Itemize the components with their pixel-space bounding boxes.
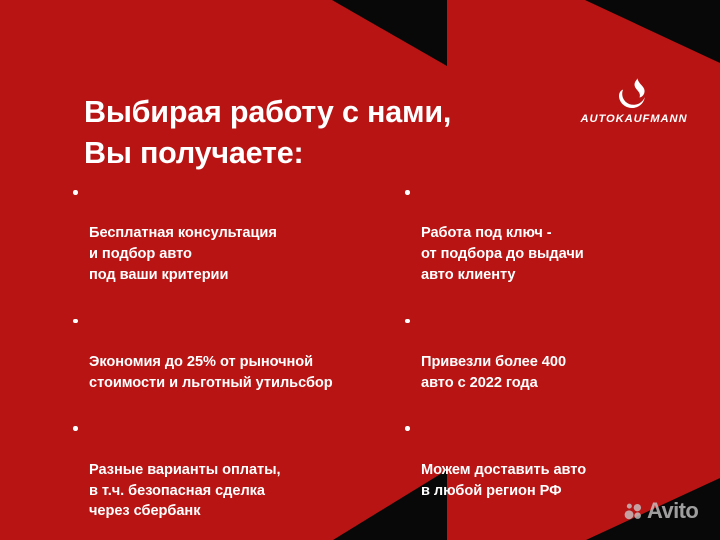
- benefit-text: Работа под ключ - от подбора до выдачи а…: [421, 225, 584, 282]
- avito-watermark: Avito: [624, 500, 698, 522]
- page-title: Выбирая работу с нами, Вы получаете:: [84, 92, 554, 173]
- bullet-dot-icon: [405, 190, 410, 195]
- benefit-text: Можем доставить авто в любой регион РФ: [421, 462, 586, 499]
- top-right-triangle: [585, 0, 720, 63]
- avito-label: Avito: [647, 500, 698, 522]
- benefits-column-left: Бесплатная консультация и подбор авто по…: [72, 182, 402, 540]
- bullet-dot-icon: [405, 319, 410, 324]
- bullet-dot-icon: [405, 426, 410, 431]
- benefit-text: Привезли более 400 авто с 2022 года: [421, 354, 566, 391]
- flame-swoosh-icon: [617, 76, 651, 110]
- bullet-dot-icon: [73, 426, 78, 431]
- benefit-text: Экономия до 25% от рыночной стоимости и …: [89, 354, 333, 391]
- benefit-item: Разные варианты оплаты, в т.ч. безопасна…: [72, 418, 402, 522]
- avito-dots-icon: [624, 502, 643, 521]
- brand-logo: AUTOKAUFMANN: [578, 76, 690, 125]
- benefit-item: Можем доставить авто в любой регион РФ: [404, 418, 704, 501]
- benefit-text: Бесплатная консультация и подбор авто по…: [89, 225, 277, 282]
- top-left-triangle: [332, 0, 447, 66]
- benefit-item: Экономия до 25% от рыночной стоимости и …: [72, 311, 402, 394]
- benefit-item: Бесплатная консультация и подбор авто по…: [72, 182, 402, 286]
- benefits-column-right: Работа под ключ - от подбора до выдачи а…: [404, 182, 704, 501]
- benefit-item: Работа под ключ - от подбора до выдачи а…: [404, 182, 704, 286]
- benefit-text: Разные варианты оплаты, в т.ч. безопасна…: [89, 462, 281, 519]
- bullet-dot-icon: [73, 190, 78, 195]
- brand-name: AUTOKAUFMANN: [578, 113, 690, 125]
- bullet-dot-icon: [73, 319, 78, 324]
- promo-poster: Выбирая работу с нами, Вы получаете: AUT…: [0, 0, 720, 540]
- benefit-item: Привезли более 400 авто с 2022 года: [404, 311, 704, 394]
